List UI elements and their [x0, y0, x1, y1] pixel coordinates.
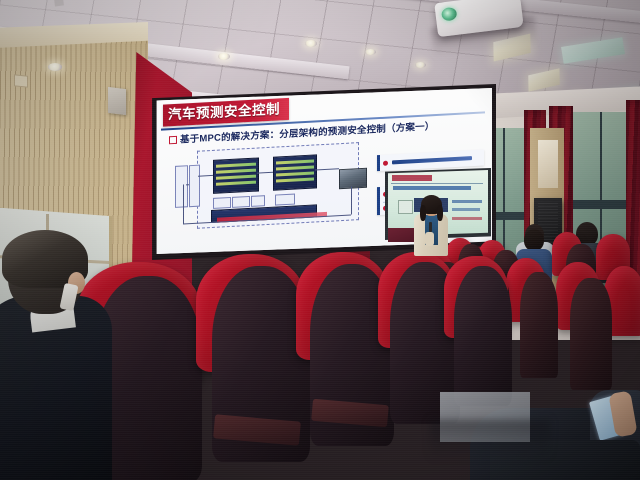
diagram-block-aux-3: [251, 195, 265, 207]
monitor-note-line-1: [452, 200, 482, 203]
speaker-hair-right: [437, 205, 443, 221]
monitor-title-bar: [392, 175, 432, 181]
diagram-block-reference-model: [175, 165, 188, 208]
wall-plate-left: [14, 74, 28, 87]
diagram-block-aux-4: [275, 194, 295, 206]
diagram-connector-5: [351, 187, 352, 215]
seat-mid-back-4[interactable]: [570, 278, 612, 390]
diagram-connector-1: [186, 184, 189, 185]
diagram-vehicle-image: [339, 168, 367, 189]
slide-block-diagram: [173, 140, 363, 232]
monitor-note-line-3: [452, 217, 482, 220]
seat-front-5-back[interactable]: [454, 266, 512, 406]
bullet-marker-icon: [169, 136, 177, 144]
wall-box-right: [538, 140, 558, 188]
lecture-hall-photo: 汽车预测安全控制 基于MPC的解决方案：分层架构的预测安全控制（方案一）: [0, 0, 640, 480]
monitor-bullet-line: [393, 186, 471, 190]
projector-lens-icon: [441, 7, 457, 22]
wall-speaker-left: [108, 87, 126, 115]
diagram-block-aux-2: [232, 196, 250, 208]
projector-mount: [53, 0, 64, 6]
audience-head-woman-blue: [524, 229, 544, 251]
floor-shadow: [430, 420, 550, 460]
speaker-hair-left: [420, 205, 426, 221]
seat-mid-back-3[interactable]: [520, 272, 558, 378]
diagram-block-lower-controller: [273, 154, 317, 190]
microphone-icon: [429, 222, 432, 232]
diagram-connector-7: [183, 184, 184, 223]
monitor-diagram-block-1: [398, 200, 413, 214]
diagram-block-upper-controller: [213, 157, 259, 193]
monitor-note-line-2: [452, 208, 480, 211]
speaker-arm: [425, 232, 434, 246]
diagram-block-input: [189, 165, 200, 208]
monitor-title-rule: [391, 183, 483, 184]
downlight-left-wall: [48, 63, 62, 71]
diagram-block-aux-1: [213, 197, 231, 209]
